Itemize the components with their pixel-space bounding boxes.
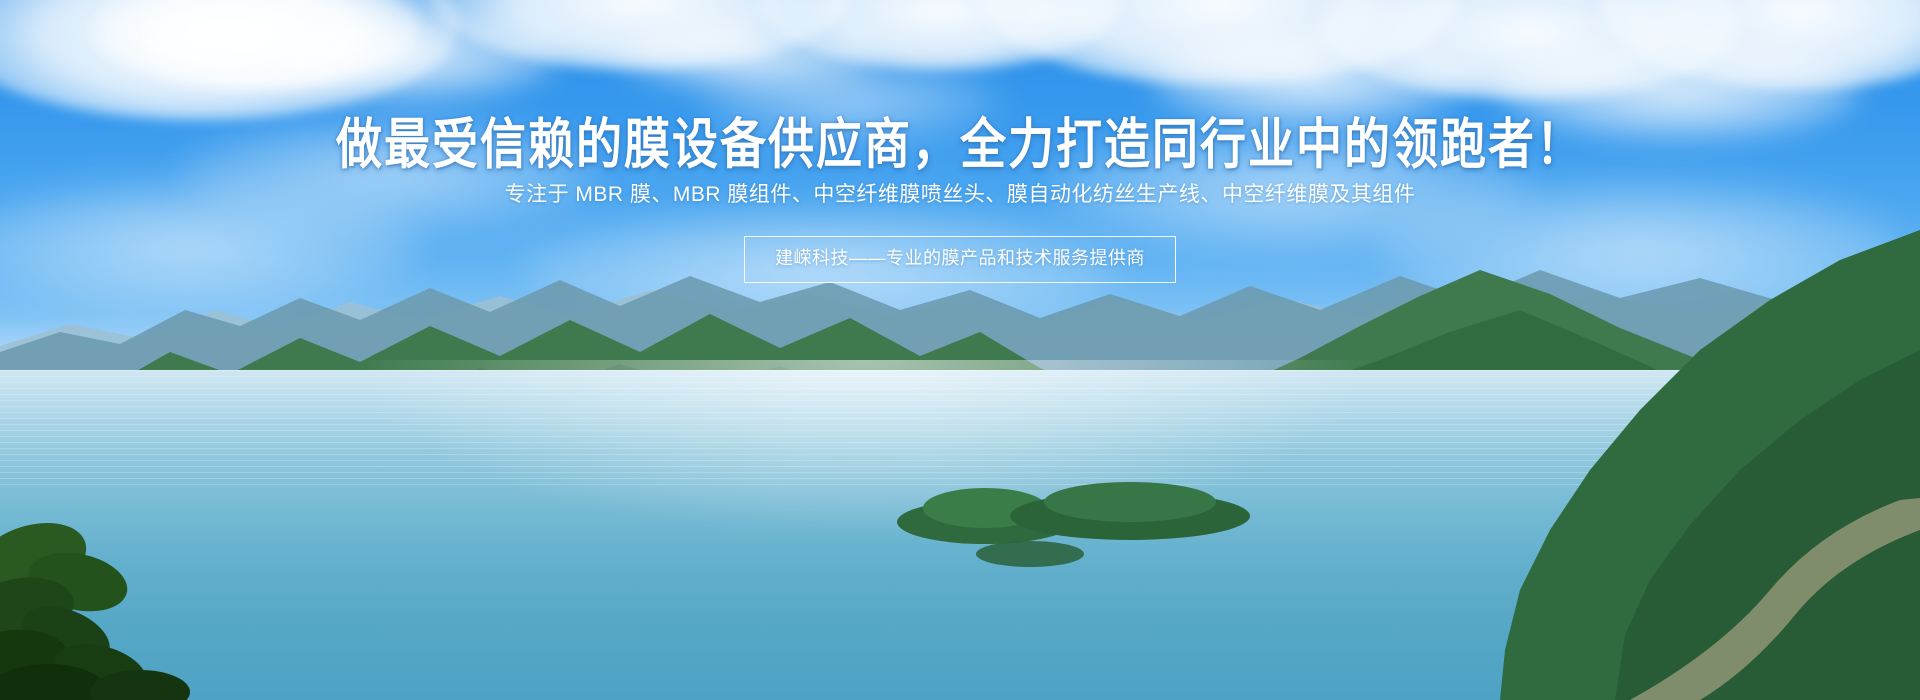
right-hillside (1300, 230, 1920, 700)
foreground-foliage (0, 440, 230, 700)
banner-headline: 做最受信赖的膜设备供应商，全力打造同行业中的领跑者！ (0, 0, 1920, 171)
banner-tagline-wrap: 建嵘科技——专业的膜产品和技术服务提供商 (0, 236, 1920, 283)
banner-tagline: 建嵘科技——专业的膜产品和技术服务提供商 (744, 236, 1176, 283)
hero-banner: 做最受信赖的膜设备供应商，全力打造同行业中的领跑者！ 专注于 MBR 膜、MBR… (0, 0, 1920, 700)
banner-content: 做最受信赖的膜设备供应商，全力打造同行业中的领跑者！ 专注于 MBR 膜、MBR… (0, 0, 1920, 283)
